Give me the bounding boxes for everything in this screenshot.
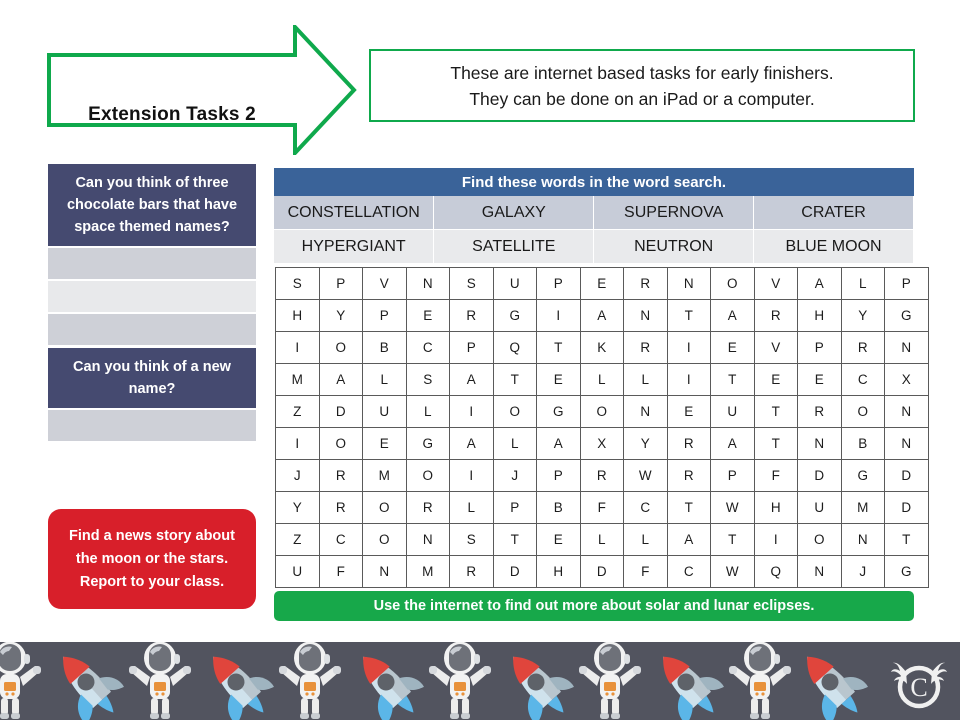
sidebar-tasks-column: Can you think of three chocolate bars th…	[48, 164, 256, 441]
word-list-item: CRATER	[754, 196, 914, 230]
wordsearch-cell[interactable]: B	[363, 332, 407, 364]
wordsearch-cell[interactable]: S	[406, 364, 450, 396]
wordsearch-cell[interactable]: T	[493, 524, 537, 556]
wordsearch-grid-row: ZCONSTELLATIONT	[276, 524, 929, 556]
wordsearch-cell[interactable]: L	[841, 268, 885, 300]
wordsearch-cell[interactable]: Y	[276, 492, 320, 524]
wordsearch-cell[interactable]: E	[754, 364, 798, 396]
wordsearch-cell[interactable]: C	[406, 332, 450, 364]
wordsearch-cell[interactable]: F	[319, 556, 363, 588]
wordsearch-cell[interactable]: Q	[493, 332, 537, 364]
word-list-item: NEUTRON	[594, 230, 754, 264]
wordsearch-cell[interactable]: J	[841, 556, 885, 588]
wordsearch-cell[interactable]: N	[406, 268, 450, 300]
wordsearch-cell[interactable]: N	[885, 396, 929, 428]
wordsearch-cell[interactable]: Z	[276, 524, 320, 556]
wordsearch-cell[interactable]: P	[711, 460, 755, 492]
wordsearch-cell[interactable]: W	[711, 492, 755, 524]
wordsearch-cell[interactable]: E	[667, 396, 711, 428]
wordsearch-cell[interactable]: G	[537, 396, 581, 428]
wordsearch-cell[interactable]: M	[363, 460, 407, 492]
wordsearch-cell[interactable]: O	[841, 396, 885, 428]
wordsearch-cell[interactable]: E	[406, 300, 450, 332]
wordsearch-cell[interactable]: M	[841, 492, 885, 524]
wordsearch-cell[interactable]: R	[580, 460, 624, 492]
wordsearch-cell[interactable]: K	[580, 332, 624, 364]
wordsearch-grid-body: SPVNSUPERNOVALPHYPERGIANTARHYGIOBCPQTKRI…	[276, 268, 929, 588]
wordsearch-cell[interactable]: X	[885, 364, 929, 396]
wordsearch-cell[interactable]: V	[754, 268, 798, 300]
wordsearch-cell[interactable]: N	[798, 556, 842, 588]
wordsearch-cell[interactable]: R	[667, 460, 711, 492]
wordsearch-cell[interactable]: D	[493, 556, 537, 588]
wordsearch-cell[interactable]: Y	[624, 428, 668, 460]
wordsearch-cell[interactable]: E	[798, 364, 842, 396]
wordsearch-cell[interactable]: G	[841, 460, 885, 492]
wordsearch-cell[interactable]: J	[276, 460, 320, 492]
wordsearch-cell[interactable]: I	[450, 396, 494, 428]
wordsearch-cell[interactable]: N	[667, 268, 711, 300]
wordsearch-cell[interactable]: P	[537, 460, 581, 492]
wordsearch-cell[interactable]: N	[406, 524, 450, 556]
wordsearch-cell[interactable]: D	[885, 460, 929, 492]
wordsearch-cell[interactable]: E	[537, 524, 581, 556]
wordsearch-cell[interactable]: D	[798, 460, 842, 492]
wordsearch-cell[interactable]: O	[363, 524, 407, 556]
wordsearch-cell[interactable]: Z	[276, 396, 320, 428]
wordsearch-cell[interactable]: L	[363, 364, 407, 396]
wordsearch-cell[interactable]: A	[667, 524, 711, 556]
wordsearch-cell[interactable]: L	[624, 364, 668, 396]
wordsearch-cell[interactable]: G	[885, 556, 929, 588]
wordsearch-cell[interactable]: E	[363, 428, 407, 460]
wordsearch-cell[interactable]: R	[841, 332, 885, 364]
wordsearch-cell[interactable]: M	[406, 556, 450, 588]
wordsearch-cell[interactable]: L	[580, 364, 624, 396]
wordsearch-cell[interactable]: O	[319, 428, 363, 460]
new-name-prompt: Can you think of a new name?	[48, 348, 256, 408]
wordsearch-cell[interactable]: F	[580, 492, 624, 524]
space-strip-graphics	[0, 642, 960, 720]
wordsearch-cell[interactable]: T	[493, 364, 537, 396]
wordsearch-cell[interactable]: Q	[754, 556, 798, 588]
news-story-task-text: Find a news story about the moon or the …	[60, 525, 244, 594]
wordsearch-cell[interactable]: A	[319, 364, 363, 396]
word-list-body: CONSTELLATIONGALAXYSUPERNOVACRATERHYPERG…	[274, 196, 914, 264]
word-list-item: BLUE MOON	[754, 230, 914, 264]
wordsearch-cell[interactable]: T	[667, 492, 711, 524]
wordsearch-cell[interactable]: D	[319, 396, 363, 428]
copyright-antlers-icon: C	[888, 650, 950, 712]
wordsearch-cell[interactable]: R	[319, 492, 363, 524]
news-story-task-box: Find a news story about the moon or the …	[48, 509, 256, 609]
wordsearch-cell[interactable]: U	[276, 556, 320, 588]
wordsearch-cell[interactable]: P	[537, 268, 581, 300]
wordsearch-cell[interactable]: N	[624, 396, 668, 428]
wordsearch-cell[interactable]: O	[493, 396, 537, 428]
wordsearch-cell[interactable]: L	[493, 428, 537, 460]
wordsearch-cell[interactable]: P	[798, 332, 842, 364]
wordsearch-cell[interactable]: J	[493, 460, 537, 492]
wordsearch-cell[interactable]: L	[624, 524, 668, 556]
wordsearch-cell[interactable]: R	[450, 300, 494, 332]
wordsearch-cell[interactable]: T	[754, 396, 798, 428]
wordsearch-cell[interactable]: H	[754, 492, 798, 524]
wordsearch-cell[interactable]: P	[493, 492, 537, 524]
wordsearch-cell[interactable]: R	[667, 428, 711, 460]
wordsearch-cell[interactable]: V	[754, 332, 798, 364]
wordsearch-cell[interactable]: R	[319, 460, 363, 492]
wordsearch-cell[interactable]: T	[667, 300, 711, 332]
word-list-item: GALAXY	[434, 196, 594, 230]
wordsearch-cell[interactable]: T	[537, 332, 581, 364]
wordsearch-grid-row: MALSATELLITEECX	[276, 364, 929, 396]
wordsearch-cell[interactable]: I	[754, 524, 798, 556]
wordsearch-cell[interactable]: U	[798, 492, 842, 524]
wordsearch-cell[interactable]: Y	[841, 300, 885, 332]
wordsearch-cell[interactable]: I	[537, 300, 581, 332]
wordsearch-cell[interactable]: P	[363, 300, 407, 332]
intro-instructions-box: These are internet based tasks for early…	[369, 49, 915, 122]
wordsearch-cell[interactable]: G	[493, 300, 537, 332]
wordsearch-cell[interactable]: U	[493, 268, 537, 300]
wordsearch-cell[interactable]: N	[798, 428, 842, 460]
intro-line-2: They can be done on an iPad or a compute…	[469, 86, 814, 112]
wordsearch-cell[interactable]: I	[276, 428, 320, 460]
wordsearch-cell[interactable]: A	[798, 268, 842, 300]
wordsearch-cell[interactable]: A	[711, 300, 755, 332]
wordsearch-cell[interactable]: U	[711, 396, 755, 428]
wordsearch-cell[interactable]: H	[537, 556, 581, 588]
wordsearch-grid-row: SPVNSUPERNOVALP	[276, 268, 929, 300]
wordsearch-cell[interactable]: L	[580, 524, 624, 556]
wordsearch-cell[interactable]: A	[711, 428, 755, 460]
extension-tasks-arrow-banner: Extension Tasks 2	[47, 25, 357, 155]
wordsearch-cell[interactable]: P	[885, 268, 929, 300]
wordsearch-cell[interactable]: P	[450, 332, 494, 364]
intro-line-1: These are internet based tasks for early…	[450, 60, 833, 86]
word-list-item: HYPERGIANT	[274, 230, 434, 264]
wordsearch-cell[interactable]: B	[841, 428, 885, 460]
word-list-item: CONSTELLATION	[274, 196, 434, 230]
wordsearch-cell[interactable]: C	[841, 364, 885, 396]
chocolate-answer-line-3[interactable]	[48, 314, 256, 345]
wordsearch-cell[interactable]: S	[450, 524, 494, 556]
wordsearch-cell[interactable]: F	[624, 556, 668, 588]
chocolate-bars-prompt: Can you think of three chocolate bars th…	[48, 164, 256, 246]
wordsearch-grid-row: YRORLPBFCTWHUMD	[276, 492, 929, 524]
wordsearch-word-list: CONSTELLATIONGALAXYSUPERNOVACRATERHYPERG…	[274, 196, 914, 264]
wordsearch-cell[interactable]: T	[754, 428, 798, 460]
wordsearch-cell[interactable]: V	[363, 268, 407, 300]
wordsearch-cell[interactable]: O	[798, 524, 842, 556]
word-list-row: CONSTELLATIONGALAXYSUPERNOVACRATER	[274, 196, 914, 230]
wordsearch-cell[interactable]: G	[885, 300, 929, 332]
wordsearch-grid-row: HYPERGIANTARHYG	[276, 300, 929, 332]
wordsearch-cell[interactable]: B	[537, 492, 581, 524]
wordsearch-cell[interactable]: W	[711, 556, 755, 588]
space-decoration-strip: C	[0, 642, 960, 720]
wordsearch-cell[interactable]: C	[319, 524, 363, 556]
wordsearch-cell[interactable]: N	[841, 524, 885, 556]
wordsearch-cell[interactable]: D	[885, 492, 929, 524]
word-list-item: SUPERNOVA	[594, 196, 754, 230]
wordsearch-cell[interactable]: O	[319, 332, 363, 364]
wordsearch-header: Find these words in the word search.	[274, 168, 914, 196]
wordsearch-cell[interactable]: I	[667, 332, 711, 364]
internet-research-banner: Use the internet to find out more about …	[274, 591, 914, 621]
wordsearch-cell[interactable]: O	[711, 268, 755, 300]
wordsearch-cell[interactable]: A	[450, 364, 494, 396]
wordsearch-cell[interactable]: O	[406, 460, 450, 492]
wordsearch-cell[interactable]: E	[537, 364, 581, 396]
wordsearch-cell[interactable]: Y	[319, 300, 363, 332]
wordsearch-cell[interactable]: R	[450, 556, 494, 588]
wordsearch-cell[interactable]: I	[276, 332, 320, 364]
wordsearch-cell[interactable]: R	[754, 300, 798, 332]
wordsearch-cell[interactable]: A	[537, 428, 581, 460]
wordsearch-cell[interactable]: E	[711, 332, 755, 364]
wordsearch-grid-row: UFNMRDHDFCWQNJG	[276, 556, 929, 588]
wordsearch-cell[interactable]: O	[580, 396, 624, 428]
wordsearch-cell[interactable]: R	[624, 268, 668, 300]
wordsearch-cell[interactable]: I	[450, 460, 494, 492]
copyright-glyph: C	[910, 673, 927, 702]
wordsearch-cell[interactable]: G	[406, 428, 450, 460]
wordsearch-cell[interactable]: N	[624, 300, 668, 332]
wordsearch-cell[interactable]: L	[450, 492, 494, 524]
wordsearch-cell[interactable]: W	[624, 460, 668, 492]
chocolate-answer-line-2[interactable]	[48, 281, 256, 312]
wordsearch-cell[interactable]: T	[711, 364, 755, 396]
word-list-row: HYPERGIANTSATELLITENEUTRONBLUE MOON	[274, 230, 914, 264]
wordsearch-cell[interactable]: H	[276, 300, 320, 332]
wordsearch-cell[interactable]: U	[363, 396, 407, 428]
wordsearch-cell[interactable]: D	[580, 556, 624, 588]
wordsearch-cell[interactable]: M	[276, 364, 320, 396]
wordsearch-cell[interactable]: C	[624, 492, 668, 524]
wordsearch-cell[interactable]: R	[624, 332, 668, 364]
wordsearch-cell[interactable]: N	[885, 332, 929, 364]
wordsearch-cell[interactable]: S	[276, 268, 320, 300]
wordsearch-cell[interactable]: F	[754, 460, 798, 492]
strip-icon-row	[0, 642, 876, 720]
wordsearch-cell[interactable]: X	[580, 428, 624, 460]
wordsearch-cell[interactable]: A	[450, 428, 494, 460]
wordsearch-cell[interactable]: E	[580, 268, 624, 300]
wordsearch-cell[interactable]: L	[406, 396, 450, 428]
wordsearch-grid-row: IOEGALAXYRATNBN	[276, 428, 929, 460]
word-list-item: SATELLITE	[434, 230, 594, 264]
wordsearch-cell[interactable]: H	[798, 300, 842, 332]
internet-research-banner-text: Use the internet to find out more about …	[374, 598, 815, 614]
wordsearch-cell[interactable]: I	[667, 364, 711, 396]
wordsearch-cell[interactable]: R	[798, 396, 842, 428]
wordsearch-cell[interactable]: A	[580, 300, 624, 332]
wordsearch-grid-row: ZDULIOGONEUTRON	[276, 396, 929, 428]
wordsearch-grid-row: JRMOIJPRWRPFDGD	[276, 460, 929, 492]
wordsearch-grid[interactable]: SPVNSUPERNOVALPHYPERGIANTARHYGIOBCPQTKRI…	[275, 267, 929, 588]
wordsearch-cell[interactable]: N	[885, 428, 929, 460]
wordsearch-cell[interactable]: C	[667, 556, 711, 588]
wordsearch-header-text: Find these words in the word search.	[462, 174, 726, 191]
wordsearch-cell[interactable]: T	[885, 524, 929, 556]
wordsearch-cell[interactable]: T	[711, 524, 755, 556]
wordsearch-grid-row: IOBCPQTKRIEVPRN	[276, 332, 929, 364]
wordsearch-cell[interactable]: R	[406, 492, 450, 524]
page-title: Extension Tasks 2	[47, 80, 297, 150]
wordsearch-cell[interactable]: P	[319, 268, 363, 300]
wordsearch-cell[interactable]: N	[363, 556, 407, 588]
wordsearch-cell[interactable]: O	[363, 492, 407, 524]
wordsearch-cell[interactable]: S	[450, 268, 494, 300]
new-name-answer-line-1[interactable]	[48, 410, 256, 441]
chocolate-answer-line-1[interactable]	[48, 248, 256, 279]
